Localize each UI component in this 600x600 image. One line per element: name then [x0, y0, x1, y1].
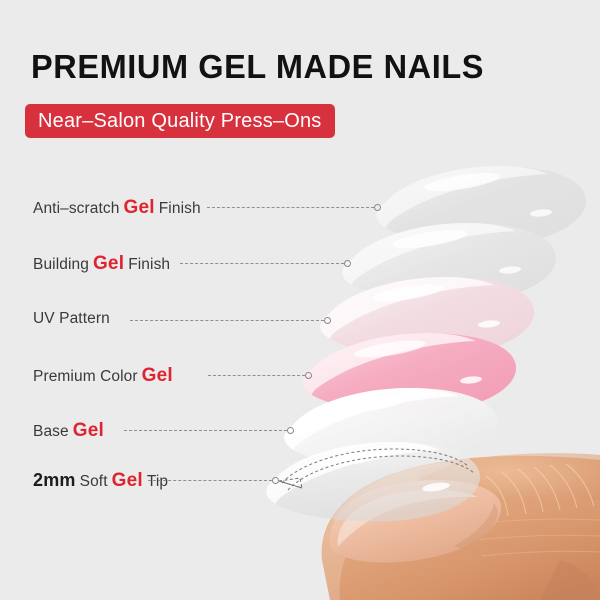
label-accent: Gel: [69, 420, 108, 442]
leader-endpoint-anti-scratch: [374, 204, 381, 211]
leader-line-base-gel: [124, 430, 287, 432]
label-part: Tip: [147, 473, 168, 491]
leader-endpoint-building-gel: [344, 260, 351, 267]
leader-line-building-gel: [180, 263, 344, 265]
label-part: Building: [33, 256, 89, 274]
leader-line-premium-color-gel: [208, 375, 305, 377]
label-measure: 2mm: [33, 470, 76, 491]
label-part: Premium Color: [33, 368, 138, 386]
label-accent: Gel: [89, 253, 128, 275]
subtitle-badge-label: Near–Salon Quality Press–Ons: [38, 110, 322, 133]
label-row-base-gel: Base Gel: [33, 420, 108, 442]
leader-endpoint-base-gel: [287, 427, 294, 434]
page-title: PREMIUM GEL MADE NAILS: [31, 48, 484, 86]
label-part: Soft: [80, 473, 108, 491]
label-row-premium-color-gel: Premium Color Gel: [33, 365, 177, 387]
leader-line-soft-gel-tip: [148, 480, 272, 482]
leader-endpoint-soft-gel-tip: [272, 477, 279, 484]
label-row-building-gel-finish: Building Gel Finish: [33, 253, 170, 275]
infographic-canvas: PREMIUM GEL MADE NAILS Near–Salon Qualit…: [0, 0, 600, 600]
label-part: Anti–scratch: [33, 200, 120, 218]
label-accent: Gel: [138, 365, 177, 387]
label-part: Finish: [159, 200, 201, 218]
leader-endpoint-uv-pattern: [324, 317, 331, 324]
label-accent: Gel: [120, 197, 159, 219]
label-row-uv-pattern: UV Pattern: [33, 310, 110, 328]
leader-line-uv-pattern: [130, 320, 324, 322]
label-accent: Gel: [108, 470, 147, 492]
nail-layer-illustration: [0, 0, 600, 600]
label-part: Finish: [128, 256, 170, 274]
label-row-anti-scratch-gel-finish: Anti–scratch Gel Finish: [33, 197, 201, 219]
subtitle-badge: Near–Salon Quality Press–Ons: [25, 104, 335, 138]
label-part: UV Pattern: [33, 310, 110, 328]
label-part: Base: [33, 423, 69, 441]
layer-shape-soft-gel-tip: [266, 442, 480, 521]
leader-line-anti-scratch: [207, 207, 374, 209]
leader-endpoint-premium-color-gel: [305, 372, 312, 379]
